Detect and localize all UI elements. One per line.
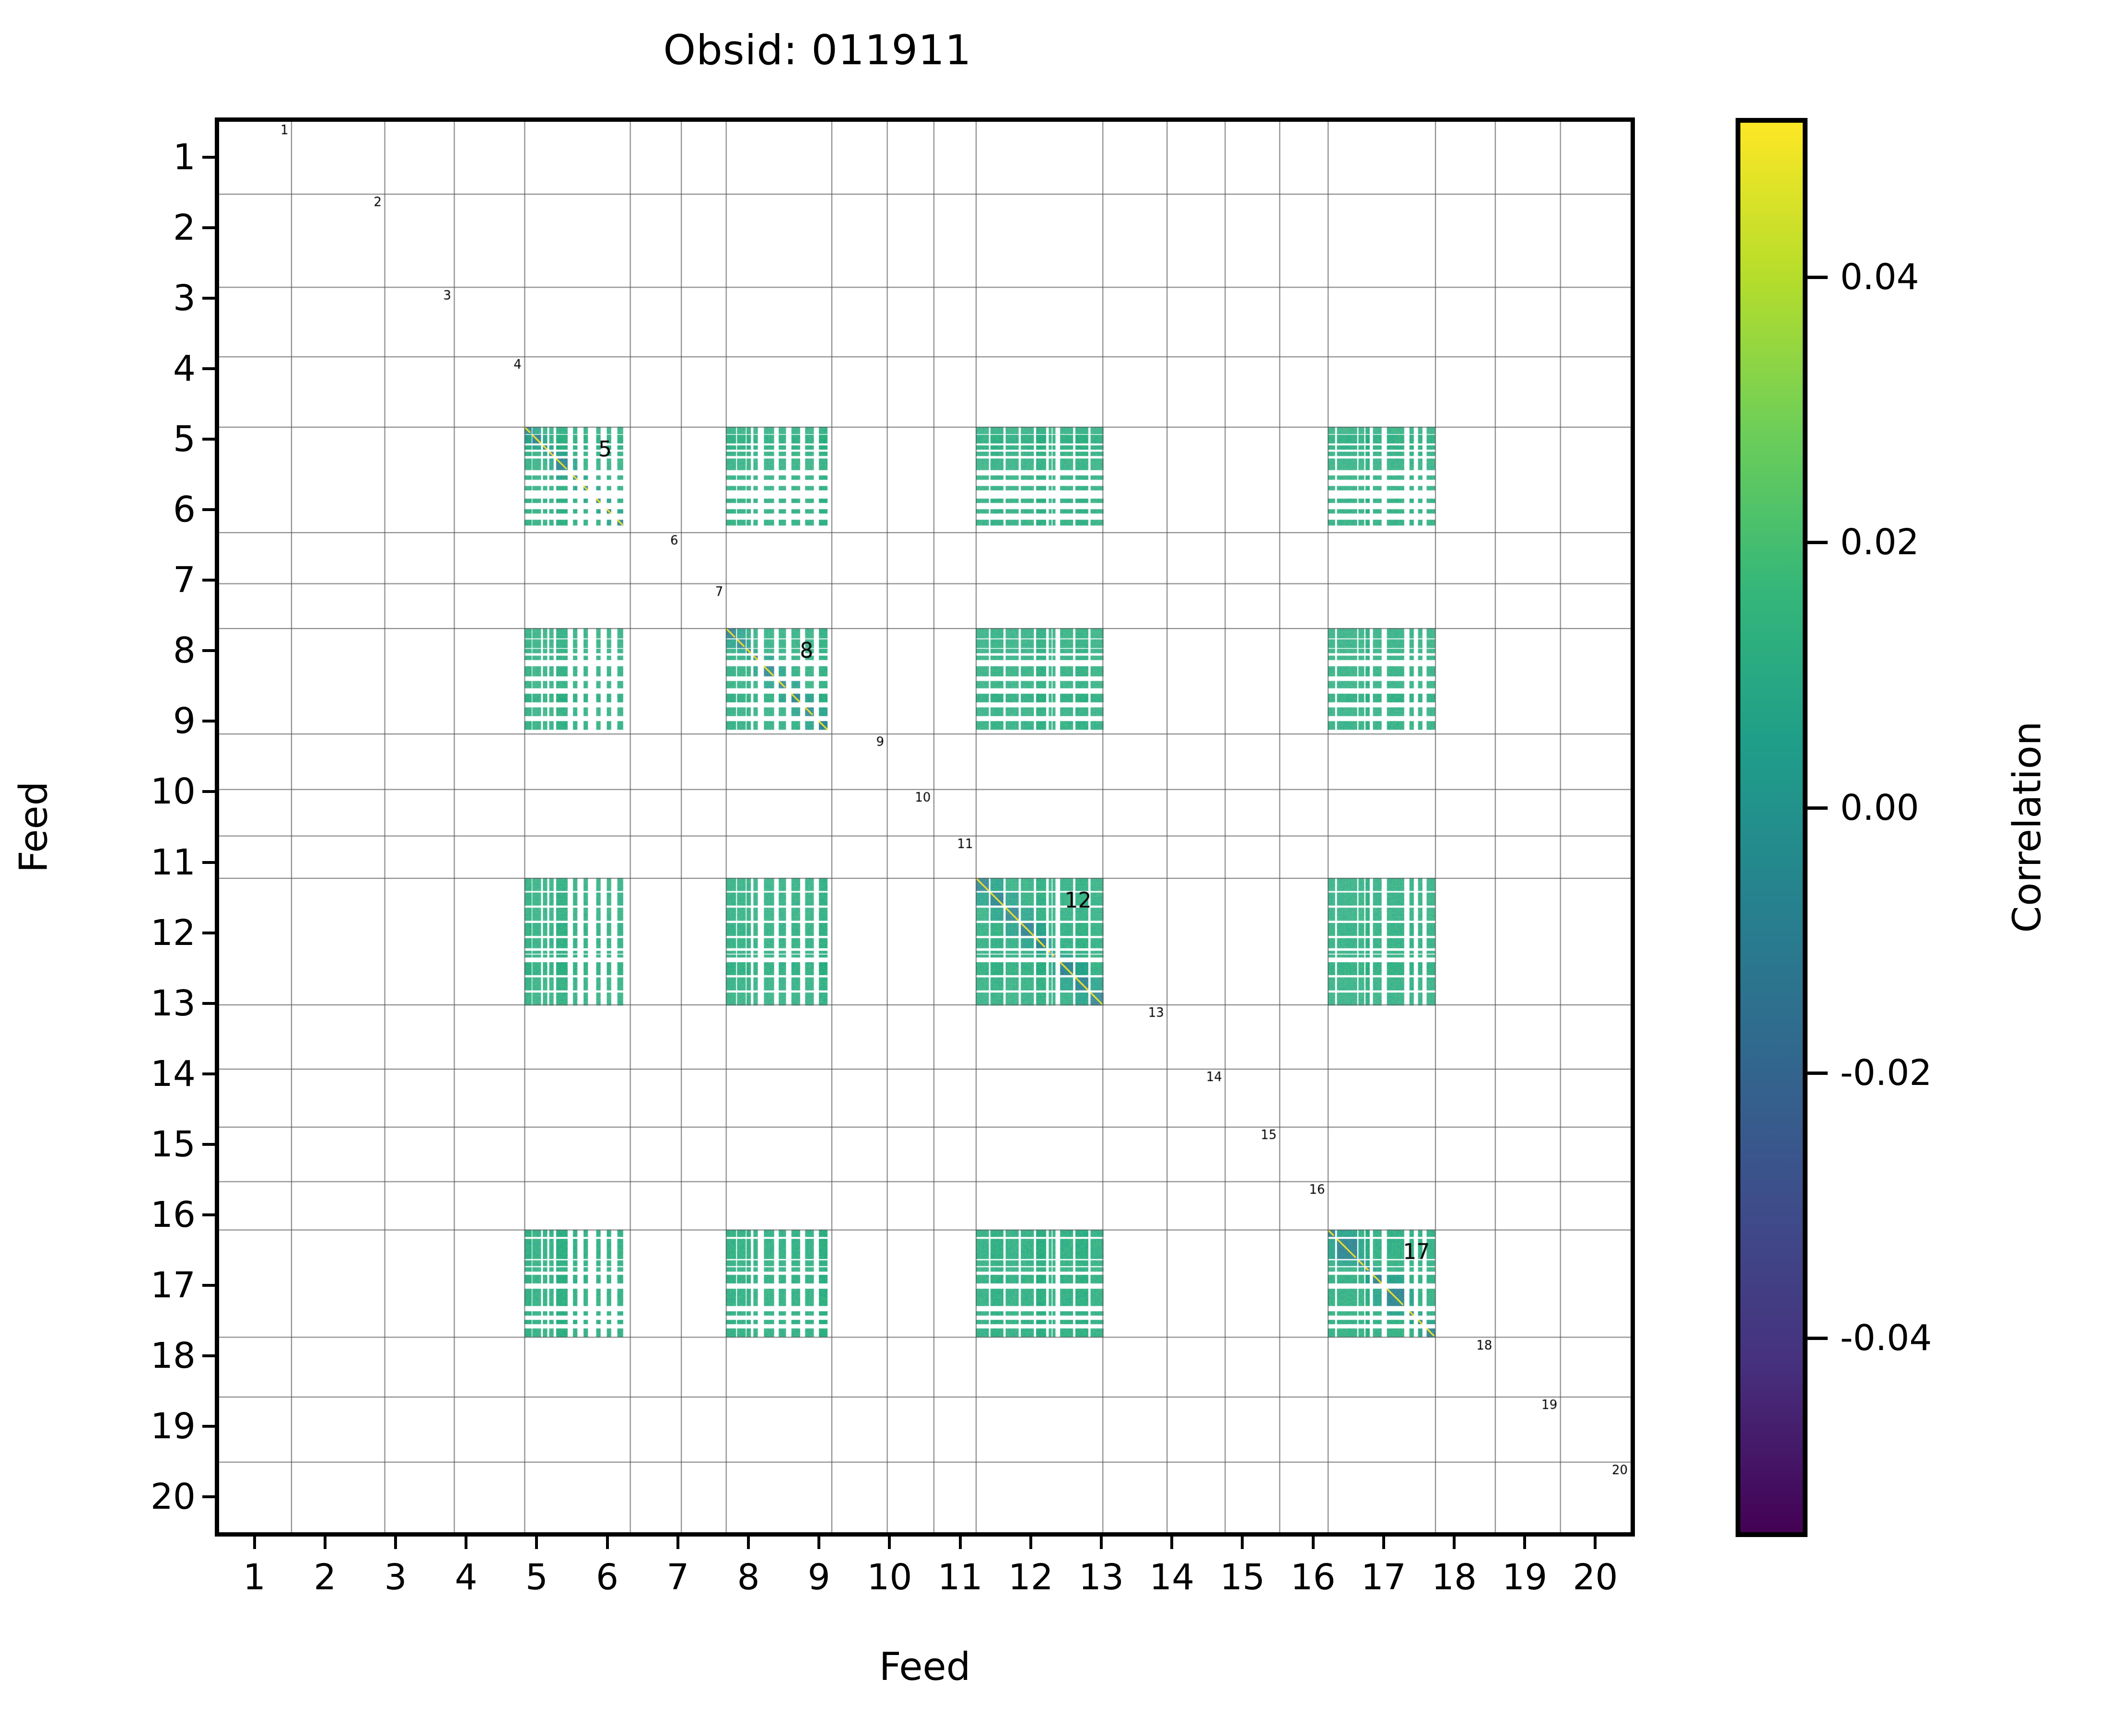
heatmap-canvas [219,122,1631,1532]
y-tick-label: 7 [124,559,196,601]
x-tick-label: 11 [938,1557,983,1598]
x-tick-label: 15 [1220,1557,1265,1598]
colorbar-gradient [1736,118,1808,1537]
y-tick-label: 4 [124,348,196,389]
y-tick-label: 18 [124,1335,196,1376]
x-tick-mark [959,1537,962,1549]
colorbar-tick-mark [1808,806,1828,810]
x-tick-label: 3 [384,1557,407,1598]
x-tick-mark [1241,1537,1244,1549]
y-tick-label: 5 [124,419,196,460]
x-tick-label: 16 [1291,1557,1336,1598]
y-tick-mark [202,367,215,370]
y-tick-mark [202,649,215,652]
x-tick-mark [817,1537,820,1549]
colorbar-tick-label: 0.02 [1840,522,1919,563]
x-tick-label: 8 [737,1557,759,1598]
y-tick-mark [202,438,215,441]
x-tick-label: 4 [455,1557,478,1598]
x-tick-label: 9 [808,1557,830,1598]
y-tick-mark [202,297,215,300]
colorbar-tick-label: 0.00 [1840,787,1919,828]
x-tick-label: 2 [314,1557,336,1598]
y-tick-mark [202,1354,215,1357]
x-tick-label: 10 [867,1557,912,1598]
y-tick-label: 13 [124,983,196,1024]
x-tick-label: 1 [243,1557,266,1598]
y-tick-mark [202,720,215,722]
y-tick-mark [202,156,215,159]
x-tick-mark [324,1537,327,1549]
y-tick-label: 12 [124,912,196,954]
colorbar[interactable] [1736,118,1808,1537]
y-tick-mark [202,1495,215,1498]
y-tick-mark [202,508,215,511]
colorbar-tick-label: 0.04 [1840,256,1919,298]
x-tick-mark [1523,1537,1526,1549]
page-title: Obsid: 011911 [0,26,1635,74]
x-tick-label: 14 [1149,1557,1194,1598]
x-tick-mark [1453,1537,1456,1549]
x-tick-label: 5 [525,1557,548,1598]
colorbar-tick-mark [1808,541,1828,544]
y-tick-mark [202,579,215,582]
correlation-matrix-plot[interactable] [215,117,1635,1537]
y-tick-mark [202,1284,215,1287]
x-tick-label: 6 [596,1557,618,1598]
x-tick-mark [253,1537,256,1549]
x-axis-title: Feed [879,1644,971,1689]
x-tick-label: 20 [1573,1557,1618,1598]
y-tick-label: 14 [124,1053,196,1095]
x-tick-label: 7 [666,1557,689,1598]
x-tick-mark [747,1537,750,1549]
x-tick-mark [1170,1537,1173,1549]
y-axis-title: Feed [12,781,56,873]
x-tick-mark [465,1537,467,1549]
x-tick-mark [1312,1537,1315,1549]
y-tick-label: 16 [124,1194,196,1235]
x-tick-mark [1029,1537,1032,1549]
y-tick-mark [202,861,215,864]
y-tick-label: 6 [124,489,196,530]
y-tick-label: 2 [124,207,196,248]
y-tick-label: 11 [124,842,196,883]
x-tick-mark [535,1537,538,1549]
y-tick-mark [202,932,215,934]
y-tick-label: 17 [124,1265,196,1306]
y-tick-label: 10 [124,771,196,812]
x-tick-label: 12 [1008,1557,1053,1598]
colorbar-tick-mark [1808,276,1828,279]
x-tick-mark [676,1537,679,1549]
y-tick-label: 1 [124,137,196,178]
y-tick-label: 9 [124,700,196,742]
x-tick-mark [394,1537,397,1549]
y-tick-mark [202,1143,215,1146]
x-tick-mark [888,1537,891,1549]
x-tick-mark [1382,1537,1385,1549]
y-tick-label: 19 [124,1406,196,1447]
y-tick-label: 8 [124,630,196,671]
x-tick-label: 18 [1432,1557,1477,1598]
x-tick-mark [606,1537,609,1549]
colorbar-title: Correlation [2005,721,2050,932]
colorbar-tick-mark [1808,1072,1828,1075]
y-tick-mark [202,790,215,793]
x-tick-label: 13 [1079,1557,1124,1598]
y-tick-mark [202,1002,215,1005]
y-tick-label: 3 [124,278,196,319]
colorbar-tick-label: -0.04 [1840,1317,1932,1359]
x-tick-mark [1594,1537,1597,1549]
colorbar-tick-mark [1808,1337,1828,1340]
x-tick-label: 19 [1502,1557,1547,1598]
y-tick-mark [202,226,215,229]
chart-root: Obsid: 011911 Feed Feed 1122334455667788… [0,0,2111,1736]
colorbar-tick-label: -0.02 [1840,1052,1932,1094]
y-tick-label: 20 [124,1476,196,1517]
y-tick-label: 15 [124,1124,196,1165]
x-tick-label: 17 [1361,1557,1406,1598]
y-tick-mark [202,1072,215,1075]
x-tick-mark [1100,1537,1103,1549]
y-tick-mark [202,1213,215,1216]
y-tick-mark [202,1425,215,1428]
